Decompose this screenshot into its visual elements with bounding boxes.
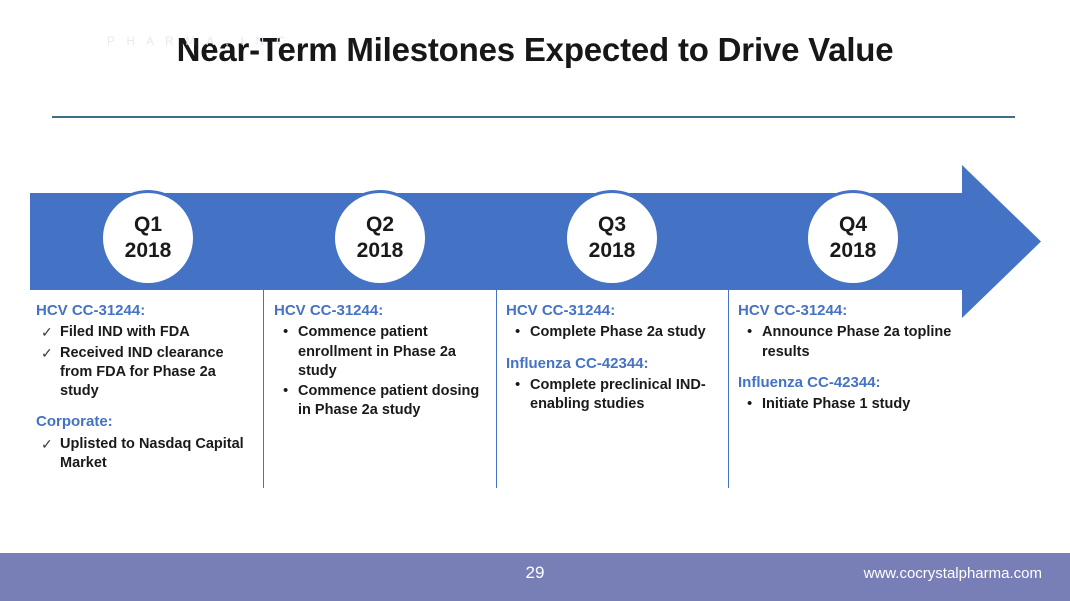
timeline-arrowhead-icon: [962, 165, 1041, 318]
milestone-item-text: Uplisted to Nasdaq Capital Market: [60, 436, 244, 471]
timeline-marker-q4[interactable]: Q4 2018: [805, 190, 901, 286]
milestone-list-item: •Commence patient enrollment in Phase 2a…: [274, 323, 490, 381]
timeline-marker-q3[interactable]: Q3 2018: [564, 190, 660, 286]
bullet-dot-icon: •: [515, 375, 520, 395]
milestone-list-item: ✓Filed IND with FDA: [36, 323, 254, 342]
milestone-list-item: ✓Uplisted to Nasdaq Capital Market: [36, 435, 254, 474]
milestone-list: ✓Uplisted to Nasdaq Capital Market: [36, 435, 254, 474]
check-icon: ✓: [41, 344, 53, 363]
milestone-group-heading: Corporate:: [36, 412, 254, 432]
check-icon: ✓: [41, 435, 53, 454]
milestone-list-item: •Announce Phase 2a topline results: [738, 323, 962, 362]
milestone-group-heading: Influenza CC-42344:: [506, 354, 722, 374]
milestone-list: •Announce Phase 2a topline results: [738, 323, 962, 362]
milestone-group-heading: HCV CC-31244:: [738, 301, 962, 321]
bullet-dot-icon: •: [283, 381, 288, 401]
timeline-marker-year: 2018: [830, 238, 877, 264]
milestone-item-text: Complete Phase 2a study: [530, 324, 706, 340]
milestone-list-item: •Complete preclinical IND-enabling studi…: [506, 376, 722, 415]
milestone-list-item: •Initiate Phase 1 study: [738, 395, 962, 414]
milestone-list: •Complete Phase 2a study: [506, 323, 722, 342]
milestone-list-item: •Commence patient dosing in Phase 2a stu…: [274, 382, 490, 421]
milestone-group-heading: HCV CC-31244:: [274, 301, 490, 321]
milestone-list: ✓Filed IND with FDA✓Received IND clearan…: [36, 323, 254, 401]
milestone-list: •Initiate Phase 1 study: [738, 395, 962, 414]
milestone-group: HCV CC-31244:✓Filed IND with FDA✓Receive…: [36, 301, 254, 401]
bullet-dot-icon: •: [283, 322, 288, 342]
milestone-group: Influenza CC-42344:•Complete preclinical…: [506, 354, 722, 415]
check-icon: ✓: [41, 323, 53, 342]
milestone-group: Corporate:✓Uplisted to Nasdaq Capital Ma…: [36, 412, 254, 473]
footer-website-url[interactable]: www.cocrystalpharma.com: [864, 565, 1042, 582]
milestone-item-text: Complete preclinical IND-enabling studie…: [530, 377, 706, 412]
milestone-group: HCV CC-31244:•Complete Phase 2a study: [506, 301, 722, 343]
company-logo: C CRYSTAL P H A R M A , I N C .: [14, 3, 314, 47]
milestone-list: •Complete preclinical IND-enabling studi…: [506, 376, 722, 415]
title-divider-rule: [52, 116, 1015, 118]
milestone-group: HCV CC-31244:•Announce Phase 2a topline …: [738, 301, 962, 362]
bullet-dot-icon: •: [747, 394, 752, 414]
timeline-marker-q2[interactable]: Q2 2018: [332, 190, 428, 286]
timeline-marker-year: 2018: [357, 238, 404, 264]
milestone-item-text: Initiate Phase 1 study: [762, 396, 910, 412]
milestone-item-text: Commence patient dosing in Phase 2a stud…: [298, 383, 479, 418]
bullet-dot-icon: •: [515, 322, 520, 342]
timeline-marker-quarter: Q1: [134, 212, 162, 238]
milestone-list-item: •Complete Phase 2a study: [506, 323, 722, 342]
milestone-column: HCV CC-31244:•Commence patient enrollmen…: [274, 301, 490, 422]
timeline-marker-quarter: Q2: [366, 212, 394, 238]
milestone-group: Influenza CC-42344:•Initiate Phase 1 stu…: [738, 373, 962, 415]
milestone-column: HCV CC-31244:•Complete Phase 2a studyInf…: [506, 301, 722, 415]
milestone-group-heading: HCV CC-31244:: [506, 301, 722, 321]
milestone-group-heading: Influenza CC-42344:: [738, 373, 962, 393]
milestone-group: HCV CC-31244:•Commence patient enrollmen…: [274, 301, 490, 421]
milestone-item-text: Commence patient enrollment in Phase 2a …: [298, 324, 456, 379]
timeline-marker-q1[interactable]: Q1 2018: [100, 190, 196, 286]
timeline-marker-quarter: Q3: [598, 212, 626, 238]
milestone-column: HCV CC-31244:•Announce Phase 2a topline …: [738, 301, 962, 415]
milestone-item-text: Announce Phase 2a topline results: [762, 324, 951, 359]
slide-canvas: Near-Term Milestones Expected to Drive V…: [0, 0, 1070, 601]
crystal-gem-icon: [38, 10, 66, 38]
milestone-list-item: ✓Received IND clearance from FDA for Pha…: [36, 344, 254, 402]
milestone-column: HCV CC-31244:✓Filed IND with FDA✓Receive…: [36, 301, 254, 474]
milestone-list: •Commence patient enrollment in Phase 2a…: [274, 323, 490, 420]
milestone-group-heading: HCV CC-31244:: [36, 301, 254, 321]
milestone-item-text: Filed IND with FDA: [60, 324, 190, 340]
logo-first-letter: C: [14, 4, 38, 38]
milestone-columns: HCV CC-31244:✓Filed IND with FDA✓Receive…: [0, 301, 1070, 501]
timeline-marker-year: 2018: [125, 238, 172, 264]
milestone-item-text: Received IND clearance from FDA for Phas…: [60, 345, 224, 400]
timeline-marker-year: 2018: [589, 238, 636, 264]
bullet-dot-icon: •: [747, 322, 752, 342]
logo-subtitle: P H A R M A , I N C .: [107, 36, 304, 48]
timeline-marker-quarter: Q4: [839, 212, 867, 238]
logo-wordmark: CRYSTAL: [68, 4, 222, 38]
